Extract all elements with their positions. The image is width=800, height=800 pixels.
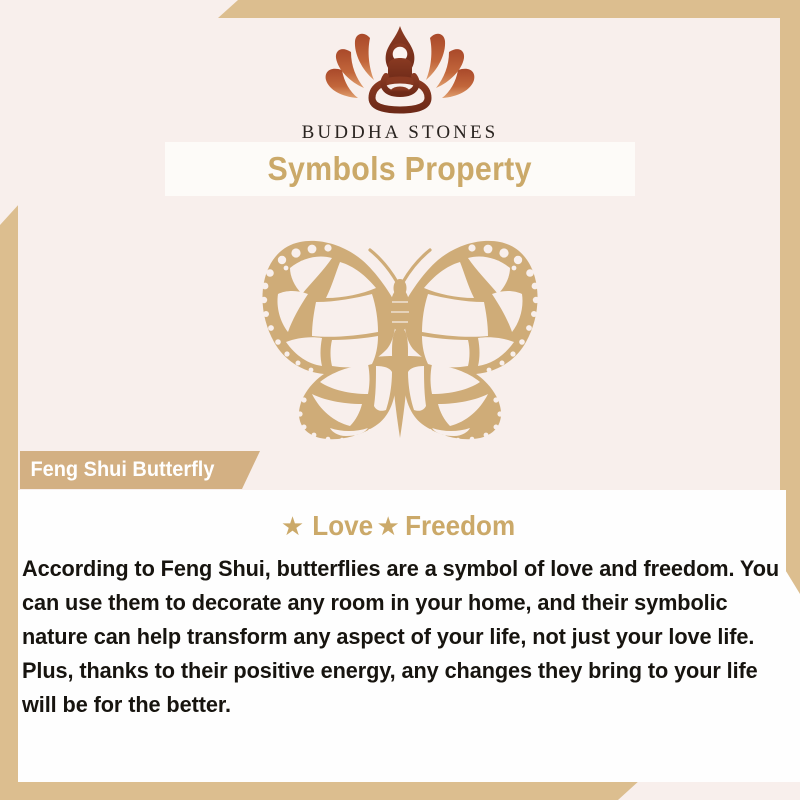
lotus-meditation-figure-icon <box>300 22 500 118</box>
page-title: Symbols Property <box>268 150 532 188</box>
tab-label-text: Feng Shui Butterfly <box>20 458 214 482</box>
subtitle-freedom: Freedom <box>405 510 515 542</box>
subtitle-love: Love <box>312 510 373 542</box>
frame-top-band <box>218 0 800 18</box>
promo-card: BUDDHA STONES Symbols Property <box>0 0 800 800</box>
brand-logo: BUDDHA STONES <box>0 22 800 144</box>
feng-shui-butterfly-tab: Feng Shui Butterfly <box>20 451 260 489</box>
description-paragraph: According to Feng Shui, butterflies are … <box>22 552 784 722</box>
butterfly-icon <box>220 232 580 444</box>
subtitle: ★ Love ★ Freedom <box>0 510 800 542</box>
brand-name: BUDDHA STONES <box>302 122 499 144</box>
star-icon-middle: ★ <box>377 513 400 539</box>
frame-bottom-band <box>0 780 640 800</box>
star-icon-left: ★ <box>281 513 304 539</box>
butterfly-illustration <box>0 228 800 448</box>
title-banner: Symbols Property <box>165 142 635 196</box>
